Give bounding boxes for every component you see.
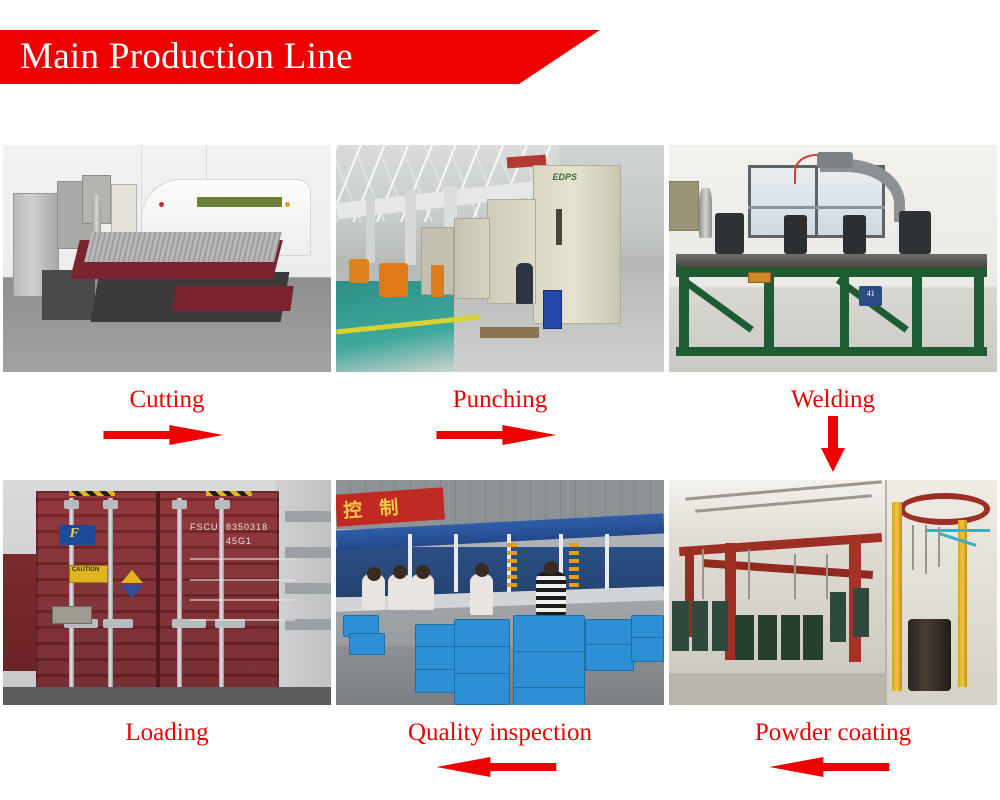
flow-arrow-slot [336,414,664,456]
page-title: Main Production Line [20,38,353,75]
shipping-container-photo: FSCU 835031 8 45G1 [3,480,331,705]
process-step-welding: 41 Welding [669,145,997,456]
flow-arrow-slot [669,746,997,788]
container-number: 835031 [226,522,262,532]
process-row-top: Cutting [3,145,997,456]
step-label-punching: Punching [336,372,664,414]
punching-press-line-photo: EDPS [336,145,664,372]
process-grid: Cutting [3,145,997,788]
process-step-cutting: Cutting [3,145,331,456]
container-type: 45G1 [226,536,252,546]
container-check-digit: 8 [262,522,268,532]
flow-arrow-slot [336,746,664,788]
container-line-logo [59,525,95,545]
step-label-cutting: Cutting [3,372,331,414]
process-row-bottom: FSCU 835031 8 45G1 Loading [3,480,997,789]
station-number-plate: 41 [859,286,882,306]
arrow-right-icon [103,422,223,448]
quality-inspection-line-photo: 控 制 [336,480,664,705]
step-label-powder-coating: Powder coating [669,705,997,747]
flow-arrow-slot [3,746,331,788]
laser-cutting-machine-photo [3,145,331,372]
arrow-left-icon [436,754,556,780]
flow-arrow-slot [3,414,331,456]
flow-arrow-slot [669,414,997,456]
step-label-quality-inspection: Quality inspection [336,705,664,747]
process-step-loading: FSCU 835031 8 45G1 Loading [3,480,331,789]
press-brand-label: EDPS [552,172,577,182]
arrow-down-icon [820,416,846,472]
process-step-powder-coating: Powder coating [669,480,997,789]
process-step-punching: EDPS Punching [336,145,664,456]
process-step-quality-inspection: 控 制 [336,480,664,789]
robotic-welding-jig-photo: 41 [669,145,997,372]
arrow-left-icon [769,754,889,780]
container-code: FSCU [190,522,219,532]
step-label-loading: Loading [3,705,331,747]
arrow-right-icon [436,422,556,448]
production-line-page: Main Production Line [0,0,1000,800]
caution-placard [69,565,108,583]
powder-coating-line-photo [669,480,997,705]
header-banner: Main Production Line [0,30,600,84]
step-label-welding: Welding [669,372,997,414]
